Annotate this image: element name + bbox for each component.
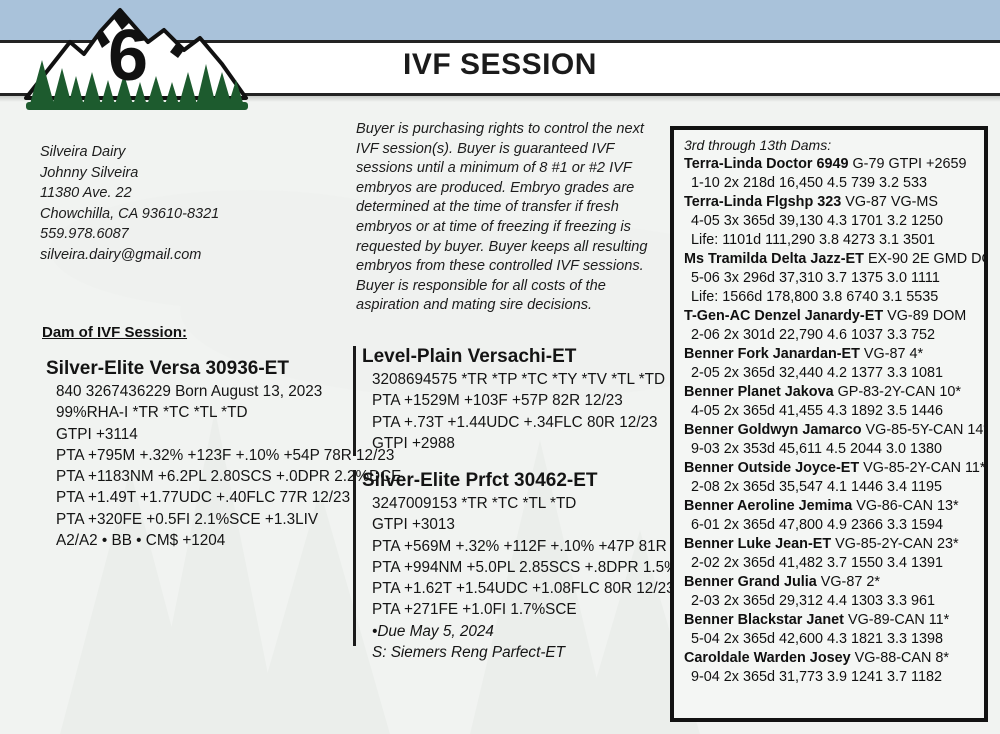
sire-line: PTA +569M +.32% +112F +.10% +47P 81R 12/… [372,536,710,557]
pedigree-dam-record: 4-05 3x 365d 39,130 4.3 1701 3.2 1250 [684,212,976,231]
pedigree-dam-name: Benner Fork Janardan-ET VG-87 4* [684,345,976,364]
pedigree-dam-name: Benner Luke Jean-ET VG-85-2Y-CAN 23* [684,535,976,554]
sire-line: GTPI +2988 [372,433,665,454]
pedigree-dam-record: 9-03 2x 353d 45,611 4.5 2044 3.0 1380 [684,440,976,459]
consignor-line: Johnny Silveira [40,163,340,184]
sire-line: PTA +994NM +5.0PL 2.85SCS +.8DPR 1.5%DCE [372,557,710,578]
pedigree-dam-record: 9-04 2x 365d 31,773 3.9 1241 3.7 1182 [684,668,976,687]
mating-sire-lines: 3247009153 *TR *TC *TL *TD GTPI +3013 PT… [362,493,710,663]
sire-line: PTA +1.62T +1.54UDC +1.08FLC 80R 12/23 [372,578,710,599]
pedigree-dam-name-text: Benner Goldwyn Jamarco [684,422,862,438]
consignor-phone: 559.978.6087 [40,224,340,245]
pedigree-dam-classification: VG-87 4* [860,346,923,362]
dam-line: PTA +320FE +0.5FI 2.1%SCE +1.3LIV [56,509,401,530]
pedigree-dam-name: Benner Blackstar Janet VG-89-CAN 11* [684,611,976,630]
pedigree-title: 3rd through 13th Dams: [684,136,976,154]
pedigree-dam-record: 2-06 2x 301d 22,790 4.6 1037 3.3 752 [684,326,976,345]
pedigree-dam-name: Benner Outside Joyce-ET VG-85-2Y-CAN 11* [684,459,976,478]
pedigree-dam-name: Caroldale Warden Josey VG-88-CAN 8* [684,649,976,668]
mating-sire-name: Level-Plain Versachi-ET [362,344,665,369]
pedigree-dam-record: 2-03 2x 365d 29,312 4.4 1303 3.3 961 [684,592,976,611]
pedigree-dam-name: Benner Grand Julia VG-87 2* [684,573,976,592]
pedigree-dam-name-text: Benner Planet Jakova [684,384,834,400]
pedigree-dam-name: Terra-Linda Flgshp 323 VG-87 VG-MS [684,193,976,212]
pedigree-dam-name-text: Ms Tramilda Delta Jazz-ET [684,251,864,267]
pedigree-dam-name: Benner Aeroline Jemima VG-86-CAN 13* [684,497,976,516]
pedigree-dam-name: Terra-Linda Doctor 6949 G-79 GTPI +2659 [684,155,976,174]
dam-animal-lines: 840 3267436229 Born August 13, 2023 99%R… [46,381,401,551]
pedigree-dam-classification: VG-87 2* [817,574,880,590]
pedigree-dam-name-text: Benner Blackstar Janet [684,612,844,628]
sire-line: PTA +271FE +1.0FI 1.7%SCE [372,599,710,620]
pedigree-dam-name: T-Gen-AC Denzel Janardy-ET VG-89 DOM [684,307,976,326]
pedigree-dam-name-text: T-Gen-AC Denzel Janardy-ET [684,308,883,324]
pedigree-dam-classification: GP-83-2Y-CAN 10* [834,384,961,400]
pedigree-dam-record: 5-04 2x 365d 42,600 4.3 1821 3.3 1398 [684,630,976,649]
sire-line: 3247009153 *TR *TC *TL *TD [372,493,710,514]
dam-line: PTA +1183NM +6.2PL 2.80SCS +.0DPR 2.2%DC… [56,466,401,487]
sire-line: PTA +1529M +103F +57P 82R 12/23 [372,390,665,411]
dam-line: 99%RHA-I *TR *TC *TL *TD [56,402,401,423]
dam-animal-name: Silver-Elite Versa 30936-ET [46,356,401,381]
pedigree-dam-classification: VG-86-CAN 13* [852,498,958,514]
consignor-line: Silveira Dairy [40,142,340,163]
pedigree-dam-classification: EX-90 2E GMD DOM [864,251,988,267]
due-date-note: •Due May 5, 2024 [372,621,710,642]
dam-line: A2/A2 • BB • CM$ +1204 [56,530,401,551]
pedigree-dam-classification: G-79 GTPI +2659 [848,156,966,172]
pedigree-dam-classification: VG-89 DOM [883,308,966,324]
mating-sire-name: Silver-Elite Prfct 30462-ET [362,468,710,493]
dam-line: PTA +795M +.32% +123F +.10% +54P 78R 12/… [56,445,401,466]
dam-line: PTA +1.49T +1.77UDC +.40FLC 77R 12/23 [56,487,401,508]
pedigree-dam-classification: VG-89-CAN 11* [844,612,949,628]
pedigree-dam-record: 5-06 3x 296d 37,310 3.7 1375 3.0 1111 [684,269,976,288]
pedigree-dam-classification: VG-85-2Y-CAN 11* [859,460,985,476]
pedigree-dam-name-text: Benner Fork Janardan-ET [684,346,860,362]
pedigree-dam-name-text: Benner Aeroline Jemima [684,498,852,514]
dam-section-heading: Dam of IVF Session: [42,324,187,341]
pedigree-dam-record: 1-10 2x 218d 16,450 4.5 739 3.2 533 [684,174,976,193]
sire-divider-rule [353,470,356,646]
pedigree-dam-name-text: Terra-Linda Flgshp 323 [684,194,841,210]
pedigree-dam-record: Life: 1101d 111,290 3.8 4273 3.1 3501 [684,231,976,250]
pedigree-box: 3rd through 13th Dams: Terra-Linda Docto… [670,126,988,722]
pedigree-dam-record: 2-05 2x 365d 32,440 4.2 1377 3.3 1081 [684,364,976,383]
sire-divider-rule [353,346,356,456]
consignor-line: 11380 Ave. 22 [40,183,340,204]
mating-sire-block-1: Level-Plain Versachi-ET 3208694575 *TR *… [362,344,665,454]
dam-line: GTPI +3114 [56,424,401,445]
pedigree-dam-classification: VG-85-5Y-CAN 14* [862,422,988,438]
terms-paragraph: Buyer is purchasing rights to control th… [356,120,666,316]
lot-number: 6 [108,20,148,92]
pedigree-dam-record: Life: 1566d 178,800 3.8 6740 3.1 5535 [684,288,976,307]
sire-line: PTA +.73T +1.44UDC +.34FLC 80R 12/23 [372,412,665,433]
consignor-block: Silveira Dairy Johnny Silveira 11380 Ave… [40,142,340,265]
pedigree-list: Terra-Linda Doctor 6949 G-79 GTPI +26591… [684,155,976,687]
pedigree-dam-name-text: Benner Luke Jean-ET [684,536,831,552]
pedigree-dam-record: 2-02 2x 365d 41,482 3.7 1550 3.4 1391 [684,554,976,573]
pedigree-dam-classification: VG-85-2Y-CAN 23* [831,536,958,552]
mating-sire-block-2: Silver-Elite Prfct 30462-ET 3247009153 *… [362,468,710,663]
dam-line: 840 3267436229 Born August 13, 2023 [56,381,401,402]
pedigree-dam-name: Benner Goldwyn Jamarco VG-85-5Y-CAN 14* [684,421,976,440]
pedigree-dam-name: Benner Planet Jakova GP-83-2Y-CAN 10* [684,383,976,402]
page-header: IVF SESSION 6 [0,0,1000,112]
pedigree-dam-classification: VG-88-CAN 8* [851,650,949,666]
pedigree-dam-record: 2-08 2x 365d 35,547 4.1 1446 3.4 1195 [684,478,976,497]
pedigree-dam-name-text: Caroldale Warden Josey [684,650,851,666]
pedigree-dam-record: 4-05 2x 365d 41,455 4.3 1892 3.5 1446 [684,402,976,421]
pedigree-dam-name-text: Terra-Linda Doctor 6949 [684,156,848,172]
mating-sire-lines: 3208694575 *TR *TP *TC *TY *TV *TL *TD P… [362,369,665,454]
dam-animal-block: Silver-Elite Versa 30936-ET 840 32674362… [46,356,401,551]
sire-line: GTPI +3013 [372,514,710,535]
pedigree-dam-name: Ms Tramilda Delta Jazz-ET EX-90 2E GMD D… [684,250,976,269]
pedigree-dam-classification: VG-87 VG-MS [841,194,938,210]
pedigree-dam-record: 6-01 2x 365d 47,800 4.9 2366 3.3 1594 [684,516,976,535]
service-sire-note: S: Siemers Reng Parfect-ET [372,642,710,663]
consignor-email: silveira.dairy@gmail.com [40,245,340,266]
pedigree-dam-name-text: Benner Outside Joyce-ET [684,460,859,476]
pedigree-dam-name-text: Benner Grand Julia [684,574,817,590]
consignor-line: Chowchilla, CA 93610-8321 [40,204,340,225]
sire-line: 3208694575 *TR *TP *TC *TY *TV *TL *TD [372,369,665,390]
